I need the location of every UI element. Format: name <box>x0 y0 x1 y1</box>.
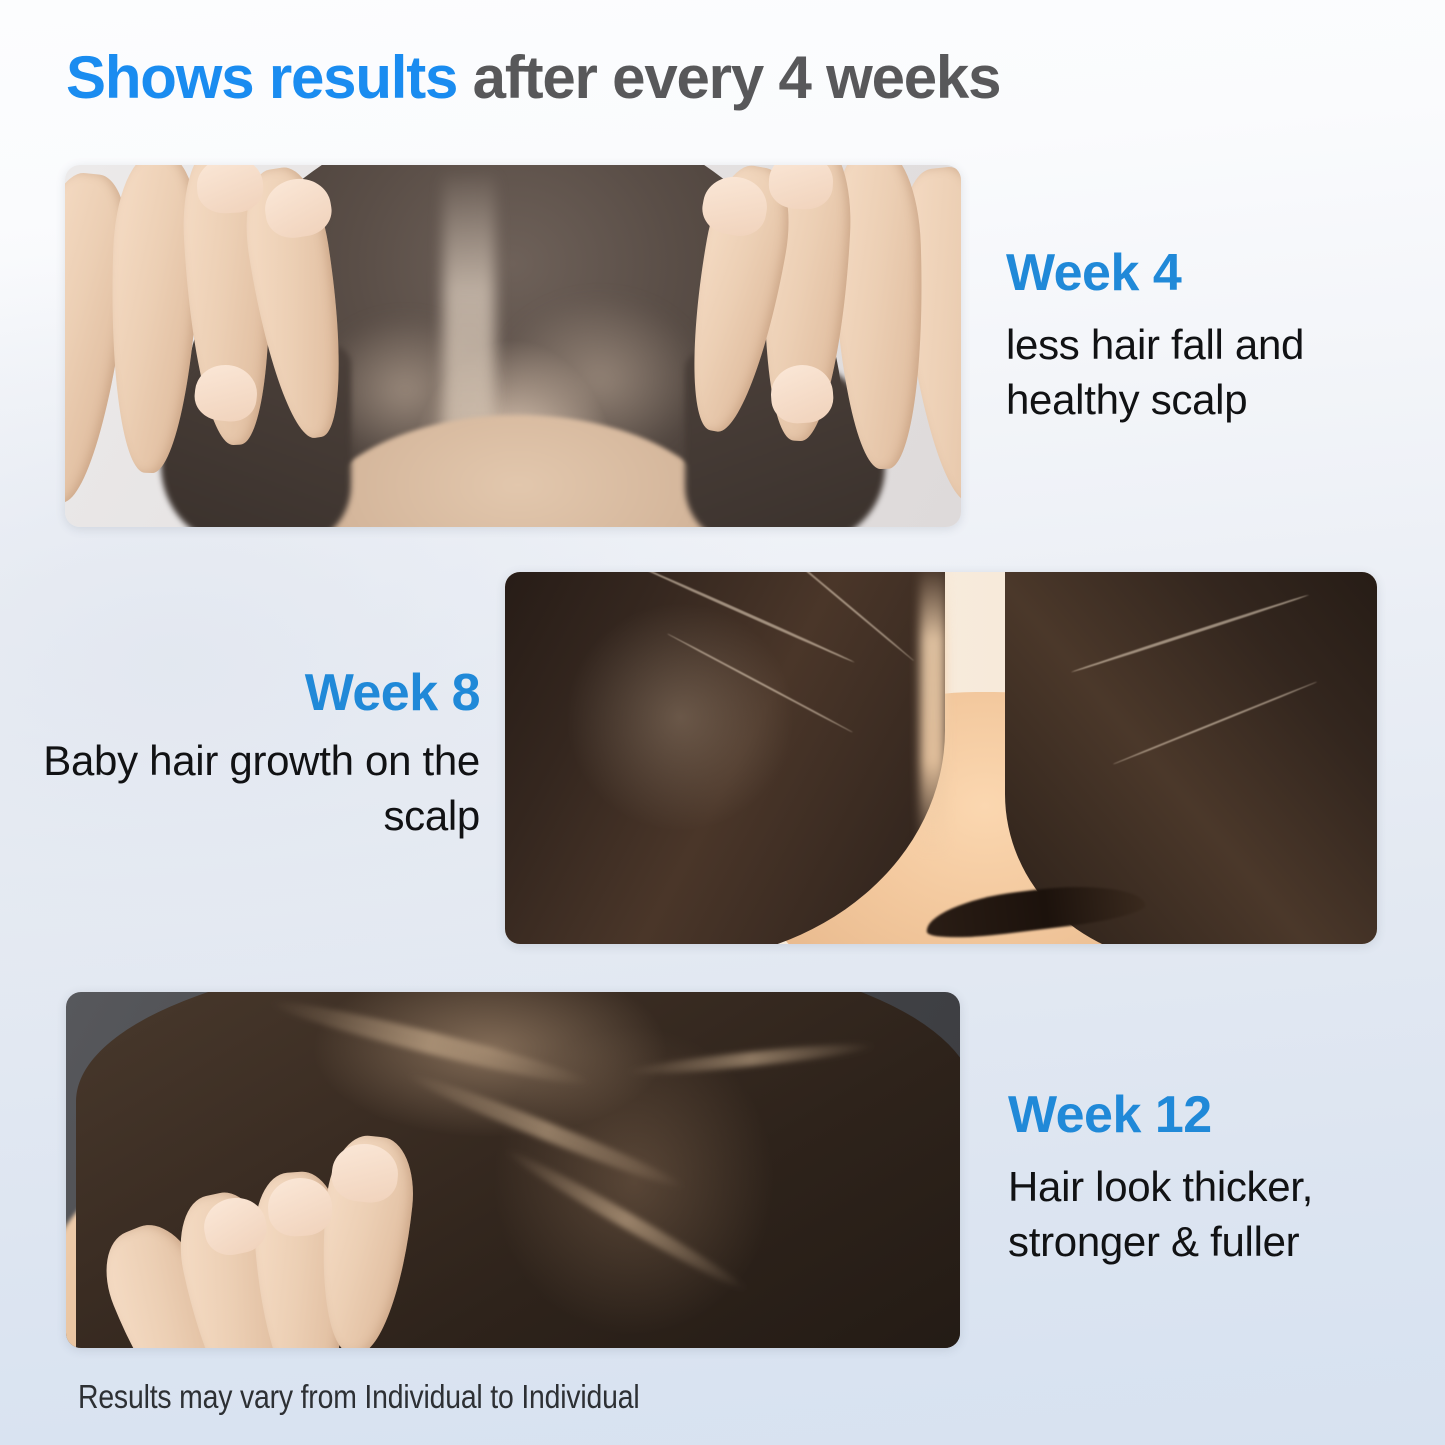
week-description: Baby hair growth on the scalp <box>30 734 480 843</box>
hand <box>96 1162 476 1348</box>
week-description: less hair fall and healthy scalp <box>1006 318 1426 427</box>
week-label: Week 8 <box>30 664 480 722</box>
hand-left <box>65 165 349 527</box>
week-label: Week 12 <box>1008 1086 1428 1144</box>
photo-week-8 <box>505 572 1377 944</box>
disclaimer-text: Results may vary from Individual to Indi… <box>78 1378 826 1416</box>
photo-week-12 <box>66 992 960 1348</box>
page-title: Shows results after every 4 weeks <box>66 46 1000 109</box>
caption-week-8: Week 8 Baby hair growth on the scalp <box>30 664 480 843</box>
headline-highlight: Shows results <box>66 44 457 111</box>
headline-rest: after every 4 weeks <box>457 44 1000 111</box>
hand-right <box>695 165 961 527</box>
caption-week-12: Week 12 Hair look thicker, stronger & fu… <box>1008 1086 1428 1269</box>
week-label: Week 4 <box>1006 244 1426 302</box>
hair-part-line <box>920 572 946 854</box>
caption-week-4: Week 4 less hair fall and healthy scalp <box>1006 244 1426 427</box>
promo-stage: Shows results after every 4 weeks <box>0 0 1445 1445</box>
photo-week-4 <box>65 165 961 527</box>
week-description: Hair look thicker, stronger & fuller <box>1008 1160 1428 1269</box>
